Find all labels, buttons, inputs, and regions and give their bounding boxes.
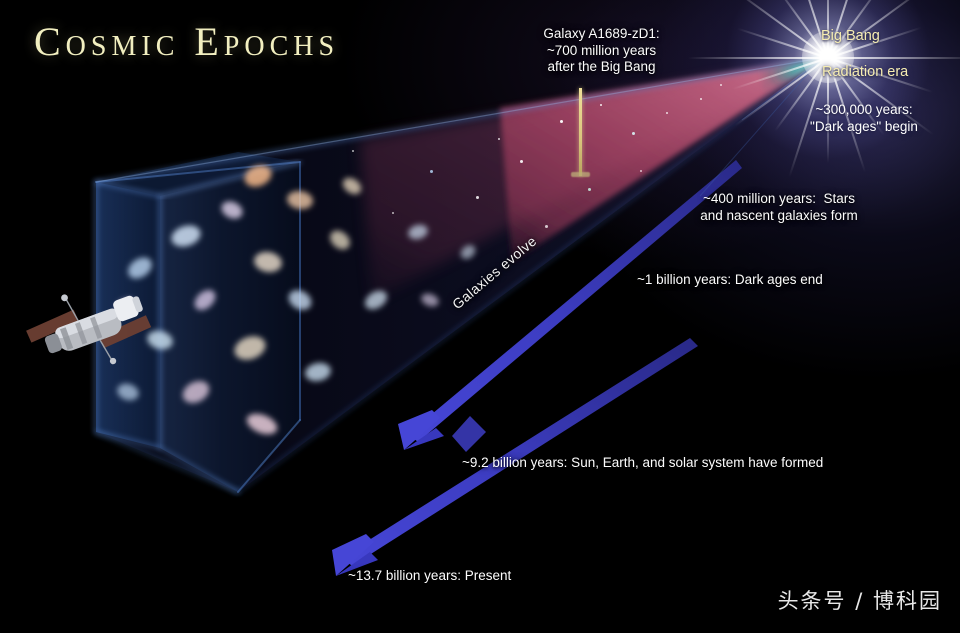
- watermark: 头条号 / 博科园: [778, 585, 942, 615]
- hubble-space-telescope: [24, 280, 164, 390]
- page-title: Cosmic Epochs: [34, 18, 339, 65]
- galaxy-pointer-line: [579, 88, 582, 176]
- annotation-galaxy-a1689: Galaxy A1689-zD1: ~700 million years aft…: [519, 26, 684, 76]
- galaxy-field: [114, 161, 478, 438]
- crimson-era-cone: [360, 59, 820, 300]
- annotation-dark-ages-end: ~1 billion years: Dark ages end: [637, 272, 823, 289]
- annotation-present: ~13.7 billion years: Present: [348, 568, 511, 585]
- galaxy-pointer-tip: [571, 172, 590, 177]
- cosmic-epochs-diagram: Cosmic Epochs Galaxy A1689-zD1: ~700 mil…: [0, 0, 960, 633]
- annotation-radiation-era: Radiation era: [822, 64, 908, 81]
- cone-tip-teal: [760, 56, 828, 92]
- annotation-solar-system: ~9.2 billion years: Sun, Earth, and sola…: [462, 455, 823, 472]
- annotation-dark-ages-begin: ~300,000 years: "Dark ages" begin: [786, 102, 942, 135]
- annotation-stars-form: ~400 million years: Stars and nascent ga…: [683, 191, 875, 224]
- annotation-galaxies-evolve: Galaxies evolve: [449, 233, 540, 313]
- annotation-big-bang: Big Bang: [821, 28, 880, 45]
